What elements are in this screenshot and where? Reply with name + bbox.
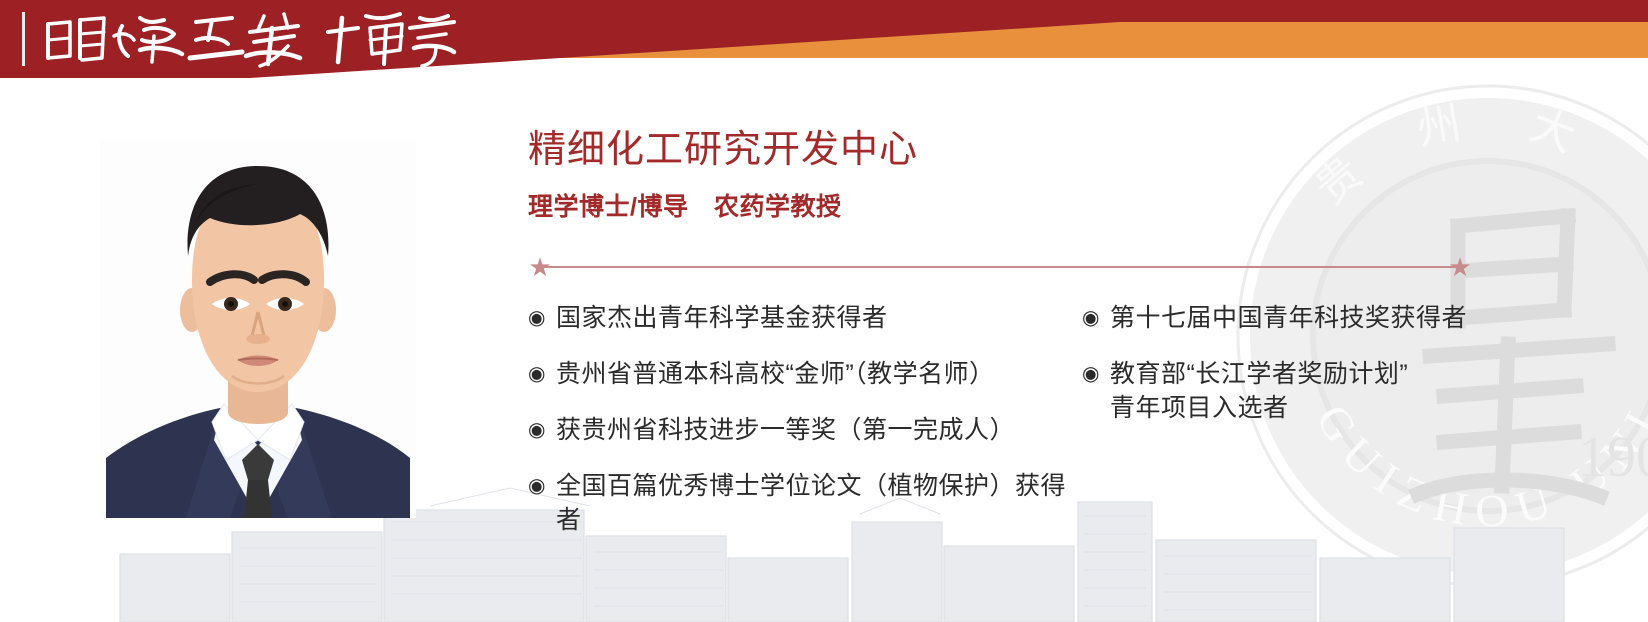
divider-line: [536, 266, 1464, 268]
honor-text: 教育部“长江学者奖励计划” 青年项目入选者: [1110, 357, 1408, 425]
profile-banner-page: 贵 州 大 GUIZHOU UNI 1902: [0, 0, 1648, 622]
page-title: 精细化工研究开发中心: [528, 120, 1528, 172]
honor-text: 国家杰出青年科学基金获得者: [556, 301, 888, 335]
bullet-icon: ◉: [528, 469, 556, 503]
portrait-photo: [100, 140, 416, 518]
list-item: ◉ 第十七届中国青年科技奖获得者: [1082, 301, 1532, 335]
bullet-icon: ◉: [528, 357, 556, 391]
list-item: ◉ 贵州省普通本科高校“金师”（教学名师）: [528, 357, 1088, 391]
list-item: ◉ 全国百篇优秀博士学位论文（植物保护）获得者: [528, 469, 1088, 537]
calligraphy-motto-icon: [36, 6, 486, 72]
section-divider: ★ ★: [528, 255, 1472, 279]
bullet-icon: ◉: [528, 413, 556, 447]
honors-left-column: ◉ 国家杰出青年科学基金获得者 ◉ 贵州省普通本科高校“金师”（教学名师） ◉ …: [528, 301, 1088, 559]
top-banner: [0, 0, 1648, 82]
bullet-icon: ◉: [1082, 301, 1110, 335]
seal-year: 1902: [1578, 424, 1648, 489]
banner-motto: [22, 6, 492, 72]
list-item: ◉ 获贵州省科技进步一等奖（第一完成人）: [528, 413, 1088, 447]
bullet-icon: ◉: [528, 301, 556, 335]
honor-text: 第十七届中国青年科技奖获得者: [1110, 301, 1467, 335]
honor-text: 全国百篇优秀博士学位论文（植物保护）获得者: [556, 469, 1088, 537]
honors-right-column: ◉ 第十七届中国青年科技奖获得者 ◉ 教育部“长江学者奖励计划” 青年项目入选者: [1082, 301, 1532, 447]
honor-text: 贵州省普通本科高校“金师”（教学名师）: [556, 357, 995, 391]
list-item: ◉ 教育部“长江学者奖励计划” 青年项目入选者: [1082, 357, 1532, 425]
honor-text: 获贵州省科技进步一等奖（第一完成人）: [556, 413, 1015, 447]
headshot-illustration: [100, 140, 416, 518]
divider-star-right: ★: [1448, 255, 1472, 279]
bullet-icon: ◉: [1082, 357, 1110, 391]
page-subtitle: 理学博士/博导 农药学教授: [528, 172, 1528, 222]
list-item: ◉ 国家杰出青年科学基金获得者: [528, 301, 1088, 335]
motto-divider-rule: [22, 12, 25, 66]
profile-content: 精细化工研究开发中心 理学博士/博导 农药学教授 ★ ★ ◉ 国家杰出青年科学基…: [528, 120, 1528, 301]
